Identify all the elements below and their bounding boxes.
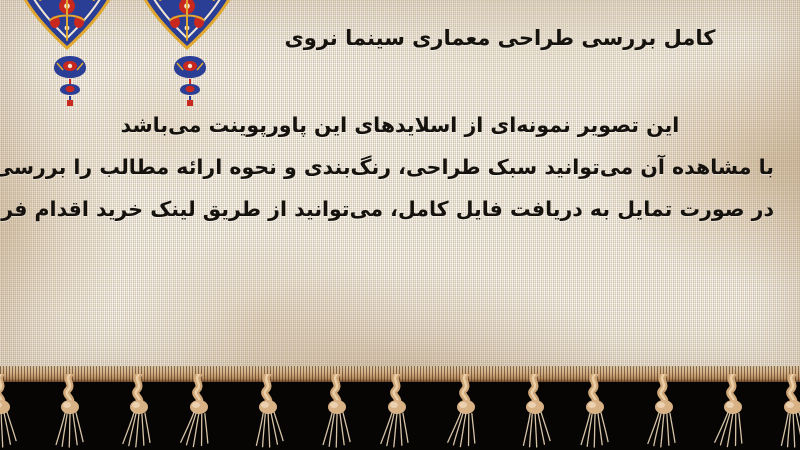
fringe-tassel xyxy=(446,374,486,450)
slide-canvas: کامل بررسی طراحی معماری سینما نروی این ت… xyxy=(0,0,800,450)
fringe-tassel xyxy=(377,374,417,450)
fringe-tassel xyxy=(50,374,90,450)
fringe-tassel xyxy=(0,374,21,450)
body-line-1: این تصویر نمونه‌ای از اسلایدهای این پاور… xyxy=(26,104,774,146)
fringe-tassel xyxy=(179,374,219,450)
fringe-tassel xyxy=(515,374,555,450)
body-line-2: با مشاهده آن می‌توانید سبک طراحی، رنگ‌بن… xyxy=(26,146,774,188)
fringe-tassel xyxy=(644,374,684,450)
body-line-3: در صورت تمایل به دریافت فایل کامل، می‌تو… xyxy=(26,188,774,230)
fringe-tassel xyxy=(713,374,753,450)
carpet-knotted-fringe xyxy=(0,366,800,450)
fringe-tassel xyxy=(119,374,159,450)
fringe-tassel xyxy=(575,374,615,450)
fringe-tassel xyxy=(773,374,800,450)
slide-body: این تصویر نمونه‌ای از اسلایدهای این پاور… xyxy=(0,104,800,230)
fringe-tassel xyxy=(248,374,288,450)
slide-title: کامل بررسی طراحی معماری سینما نروی xyxy=(0,25,800,52)
fringe-tassel xyxy=(317,374,357,450)
